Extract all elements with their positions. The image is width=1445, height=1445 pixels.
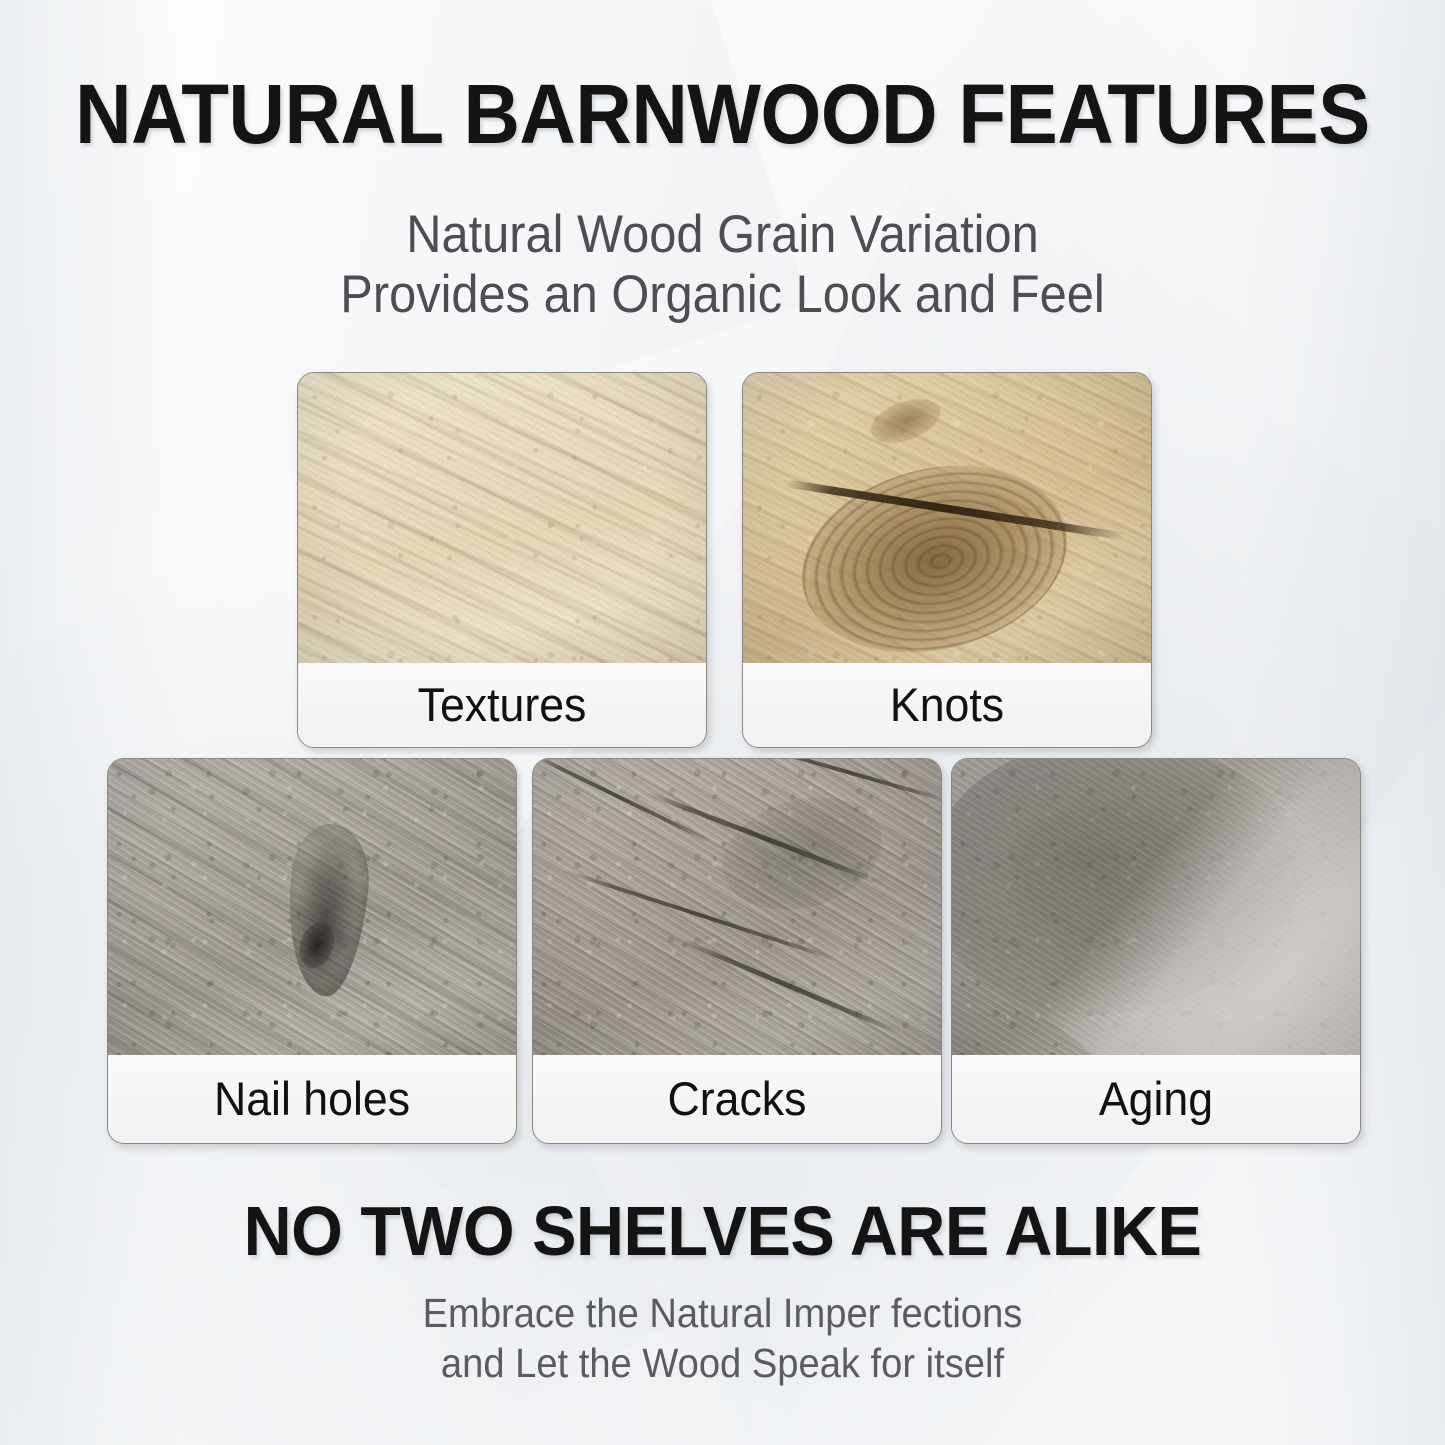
photo-vignette (108, 759, 516, 1055)
subtitle: Natural Wood Grain Variation Provides an… (58, 205, 1387, 325)
footer-note: Embrace the Natural Imper fections and L… (51, 1288, 1395, 1388)
feature-label-aging: Aging (952, 1055, 1360, 1141)
feature-label-text: Nail holes (118, 1075, 506, 1122)
footer-line-1: Embrace the Natural Imper fections (51, 1288, 1395, 1338)
footer-line-2: and Let the Wood Speak for itself (51, 1338, 1395, 1388)
photo-vignette (952, 759, 1360, 1055)
feature-image-aging (952, 759, 1360, 1055)
feature-card-knots[interactable]: Knots (742, 372, 1152, 748)
feature-label-cracks: Cracks (533, 1055, 941, 1141)
photo-vignette (298, 373, 706, 663)
feature-label-text: Cracks (543, 1075, 931, 1122)
page-title: NATURAL BARNWOOD FEATURES (51, 72, 1395, 156)
feature-card-textures[interactable]: Textures (297, 372, 707, 748)
feature-image-knots (743, 373, 1151, 663)
subtitle-line-2: Provides an Organic Look and Feel (58, 265, 1387, 325)
feature-label-text: Textures (308, 681, 696, 728)
feature-label-text: Aging (962, 1075, 1350, 1122)
feature-label-textures: Textures (298, 663, 706, 745)
feature-image-nail-holes (108, 759, 516, 1055)
feature-label-nail-holes: Nail holes (108, 1055, 516, 1141)
infographic-poster: NATURAL BARNWOOD FEATURES Natural Wood G… (0, 0, 1445, 1445)
feature-card-nail-holes[interactable]: Nail holes (107, 758, 517, 1144)
feature-label-text: Knots (753, 681, 1141, 728)
subtitle-line-1: Natural Wood Grain Variation (58, 205, 1387, 265)
feature-image-cracks (533, 759, 941, 1055)
feature-card-aging[interactable]: Aging (951, 758, 1361, 1144)
photo-vignette (743, 373, 1151, 663)
bottom-headline: NO TWO SHELVES ARE ALIKE (36, 1196, 1409, 1266)
photo-vignette (533, 759, 941, 1055)
feature-card-cracks[interactable]: Cracks (532, 758, 942, 1144)
feature-image-textures (298, 373, 706, 663)
feature-label-knots: Knots (743, 663, 1151, 745)
